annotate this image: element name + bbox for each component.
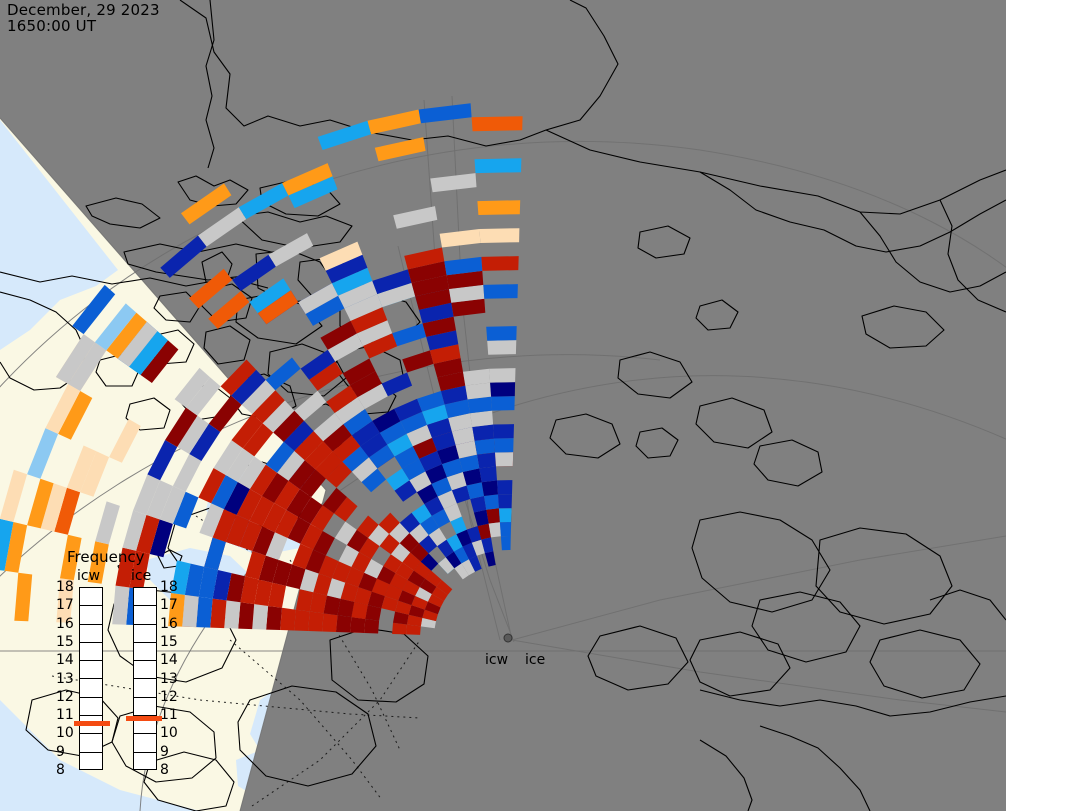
frequency-tick: 15	[56, 634, 74, 650]
frequency-tick: 14	[160, 652, 178, 668]
radar-cell	[196, 597, 212, 628]
frequency-cell	[80, 625, 102, 643]
radar-cell	[224, 600, 240, 628]
radar-cell	[493, 424, 514, 438]
frequency-tick: 10	[160, 725, 178, 741]
radar-site-marker	[504, 634, 512, 642]
page-title: December, 29 20231650:00 UT	[7, 2, 160, 34]
frequency-cell	[80, 606, 102, 624]
radar-cell	[482, 480, 498, 496]
frequency-column-header-ice: ice	[131, 568, 151, 584]
frequency-tick: 12	[160, 689, 178, 705]
radar-cell	[486, 508, 500, 523]
frequency-cell	[134, 753, 156, 771]
frequency-legend-title: Frequency	[67, 548, 145, 566]
frequency-cell	[134, 625, 156, 643]
frequency-cell	[134, 643, 156, 661]
radar-cell	[494, 438, 514, 452]
radar-cell	[210, 599, 226, 629]
frequency-tick: 9	[56, 744, 65, 760]
radar-cell	[491, 396, 515, 411]
frequency-tick: 10	[56, 725, 74, 741]
radar-cell	[266, 606, 282, 630]
radar-cell	[479, 228, 519, 243]
frequency-tick: 18	[56, 579, 74, 595]
frequency-column-header-icw: icw	[77, 568, 100, 584]
frequency-tick: 13	[160, 671, 178, 687]
radar-fan-plot-window: December, 29 20231650:00 UT icw ice Velo…	[0, 0, 1083, 811]
frequency-cell	[134, 698, 156, 716]
radar-cell	[252, 604, 268, 630]
radar-cell	[308, 612, 324, 632]
frequency-tick: 12	[56, 689, 74, 705]
frequency-tick: 18	[160, 579, 178, 595]
frequency-marker-ice	[126, 716, 162, 721]
frequency-marker-icw	[74, 721, 110, 726]
frequency-cell	[134, 661, 156, 679]
radar-cell	[483, 284, 518, 299]
radar-cell	[280, 608, 296, 631]
frequency-tick: 15	[160, 634, 178, 650]
frequency-bar-icw	[79, 587, 103, 770]
radar-cell	[350, 617, 365, 633]
radar-cell	[497, 480, 512, 494]
radar-cell	[472, 425, 494, 441]
radar-cell	[475, 439, 495, 455]
frequency-tick: 13	[56, 671, 74, 687]
frequency-tick: 9	[160, 744, 169, 760]
radar-cell	[495, 452, 513, 466]
frequency-cell	[80, 698, 102, 716]
radar-cell	[481, 256, 518, 271]
radar-cell	[472, 116, 523, 131]
title-time: 1650:00 UT	[7, 17, 96, 35]
frequency-cell	[80, 643, 102, 661]
frequency-tick: 16	[160, 616, 178, 632]
frequency-cell	[80, 588, 102, 606]
radar-cell	[338, 599, 355, 617]
frequency-tick: 11	[160, 707, 178, 723]
map-label-ice: ice	[525, 652, 545, 668]
frequency-cell	[80, 679, 102, 697]
frequency-tick: 16	[56, 616, 74, 632]
radar-cell	[238, 602, 254, 629]
frequency-bar-ice	[133, 587, 157, 770]
radar-cell	[489, 368, 515, 383]
radar-cell	[490, 382, 515, 397]
radar-cell	[477, 453, 496, 469]
radar-cell	[499, 508, 512, 522]
frequency-tick: 8	[56, 762, 65, 778]
radar-cell	[487, 340, 516, 355]
frequency-cell	[80, 753, 102, 771]
radar-cell	[468, 397, 493, 414]
frequency-cell	[80, 734, 102, 752]
colorbar-panel: Velocity (m/s) 5004003002001000-100-200-…	[1006, 0, 1083, 811]
radar-cell	[500, 522, 511, 536]
map-label-icw: icw	[485, 652, 508, 668]
frequency-cell	[134, 679, 156, 697]
frequency-tick: 11	[56, 707, 74, 723]
radar-cell	[182, 595, 199, 627]
radar-cell	[392, 623, 407, 635]
radar-cell	[294, 610, 310, 631]
frequency-cell	[134, 734, 156, 752]
radar-cell	[484, 494, 499, 509]
frequency-tick: 14	[56, 652, 74, 668]
radar-cell	[470, 411, 493, 427]
radar-cell	[322, 613, 337, 632]
radar-cell	[479, 466, 497, 482]
frequency-tick: 17	[56, 597, 74, 613]
frequency-tick: 8	[160, 762, 169, 778]
frequency-cell	[134, 588, 156, 606]
radar-cell	[477, 200, 520, 215]
frequency-tick: 17	[160, 597, 178, 613]
radar-cell	[364, 619, 379, 634]
radar-cell	[336, 615, 351, 632]
frequency-cell	[134, 606, 156, 624]
radar-cell	[498, 494, 512, 508]
radar-cell	[501, 536, 511, 550]
frequency-cell	[80, 661, 102, 679]
radar-cell	[486, 326, 517, 341]
radar-cell	[475, 158, 522, 173]
